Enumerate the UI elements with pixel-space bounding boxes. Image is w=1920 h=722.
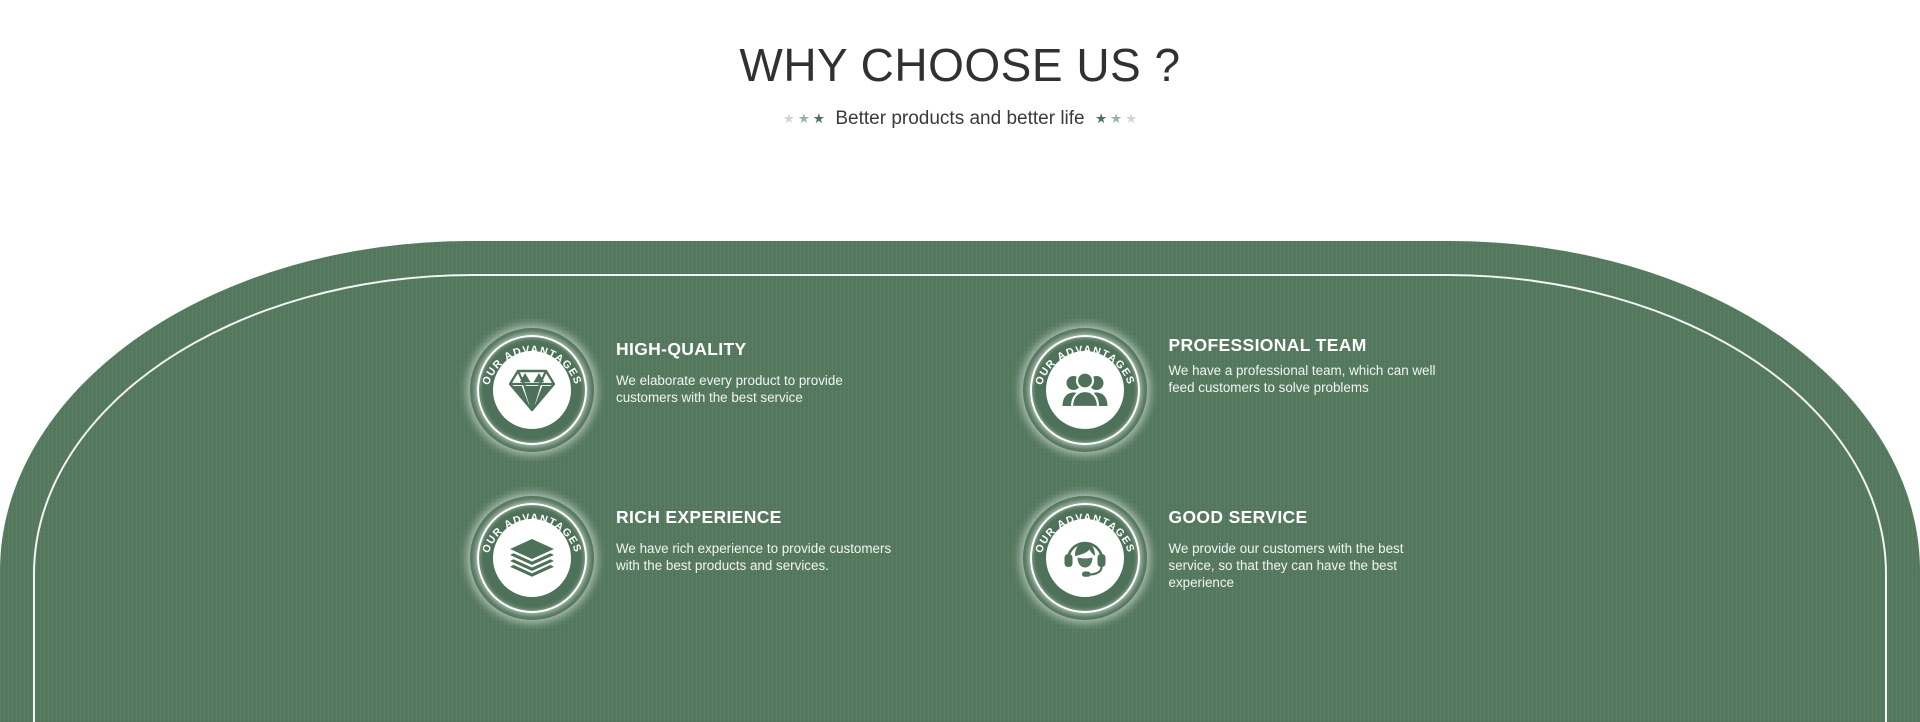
star-icon xyxy=(1096,113,1107,124)
feature-description: We elaborate every product to provide cu… xyxy=(616,372,894,407)
star-icon xyxy=(813,113,824,124)
feature-title: PROFESSIONAL TEAM xyxy=(1169,336,1447,356)
star-icon xyxy=(1111,113,1122,124)
advantage-badge: OUR ADVANTAGES xyxy=(470,496,594,620)
feature-card-good-service[interactable]: OUR ADVANTAGES xyxy=(1023,492,1451,620)
star-icon xyxy=(1126,113,1137,124)
section-subtitle: Better products and better life xyxy=(835,108,1084,130)
headset-support-icon xyxy=(1046,519,1124,597)
page-title: WHY CHOOSE US ? xyxy=(0,40,1920,91)
advantage-badge: OUR ADVANTAGES xyxy=(470,328,594,452)
subtitle-row: Better products and better life xyxy=(0,108,1920,130)
why-choose-us-section: WHY CHOOSE US ? Better products and bett… xyxy=(0,0,1920,722)
feature-title: HIGH-QUALITY xyxy=(616,340,894,360)
section-header: WHY CHOOSE US ? Better products and bett… xyxy=(0,0,1920,130)
feature-description: We have rich experience to provide custo… xyxy=(616,540,894,575)
feature-card-rich-experience[interactable]: OUR ADVANTAGES xyxy=(470,492,898,620)
feature-card-professional-team[interactable]: OUR ADVANTAGES xyxy=(1023,324,1451,452)
users-group-icon xyxy=(1046,351,1124,429)
layers-stack-icon xyxy=(493,519,571,597)
stars-left xyxy=(783,113,824,124)
green-panel: OUR ADVANTAGES xyxy=(0,241,1920,722)
feature-title: RICH EXPERIENCE xyxy=(616,508,894,528)
feature-title: GOOD SERVICE xyxy=(1169,508,1447,528)
stars-right xyxy=(1096,113,1137,124)
feature-text: RICH EXPERIENCE We have rich experience … xyxy=(594,492,894,574)
feature-row: OUR ADVANTAGES xyxy=(470,492,1450,620)
features-grid: OUR ADVANTAGES xyxy=(470,324,1450,620)
feature-card-high-quality[interactable]: OUR ADVANTAGES xyxy=(470,324,898,452)
feature-row: OUR ADVANTAGES xyxy=(470,324,1450,452)
advantage-badge: OUR ADVANTAGES xyxy=(1023,496,1147,620)
feature-text: HIGH-QUALITY We elaborate every product … xyxy=(594,324,894,406)
star-icon xyxy=(798,113,809,124)
feature-text: GOOD SERVICE We provide our customers wi… xyxy=(1147,492,1447,592)
advantage-badge: OUR ADVANTAGES xyxy=(1023,328,1147,452)
feature-description: We provide our customers with the best s… xyxy=(1169,540,1447,592)
feature-description: We have a professional team, which can w… xyxy=(1169,362,1447,397)
feature-text: PROFESSIONAL TEAM We have a professional… xyxy=(1147,324,1447,396)
star-icon xyxy=(783,113,794,124)
diamond-icon xyxy=(493,351,571,429)
